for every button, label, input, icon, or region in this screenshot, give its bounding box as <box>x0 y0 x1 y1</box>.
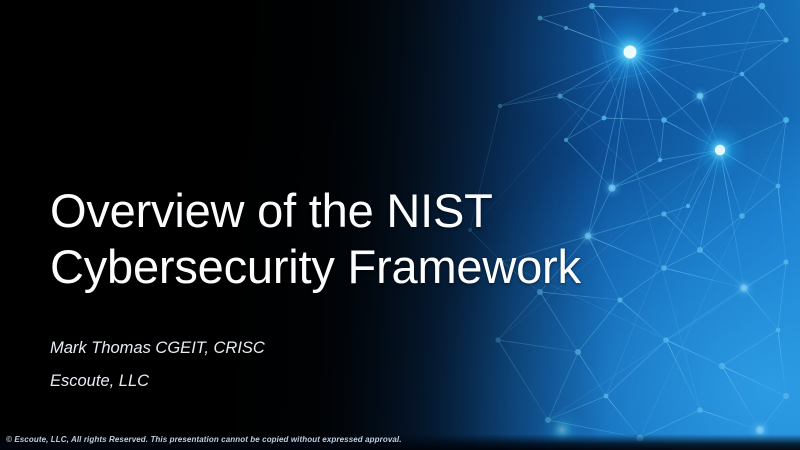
slide-subtitle: Mark Thomas CGEIT, CRISC Escoute, LLC <box>50 332 570 398</box>
subtitle-line-company: Escoute, LLC <box>50 365 570 398</box>
slide-title: Overview of the NIST Cybersecurity Frame… <box>50 183 670 294</box>
presentation-slide: Overview of the NIST Cybersecurity Frame… <box>0 0 800 450</box>
subtitle-line-presenter: Mark Thomas CGEIT, CRISC <box>50 332 570 365</box>
copyright-footer: © Escoute, LLC, All rights Reserved. Thi… <box>6 435 402 444</box>
